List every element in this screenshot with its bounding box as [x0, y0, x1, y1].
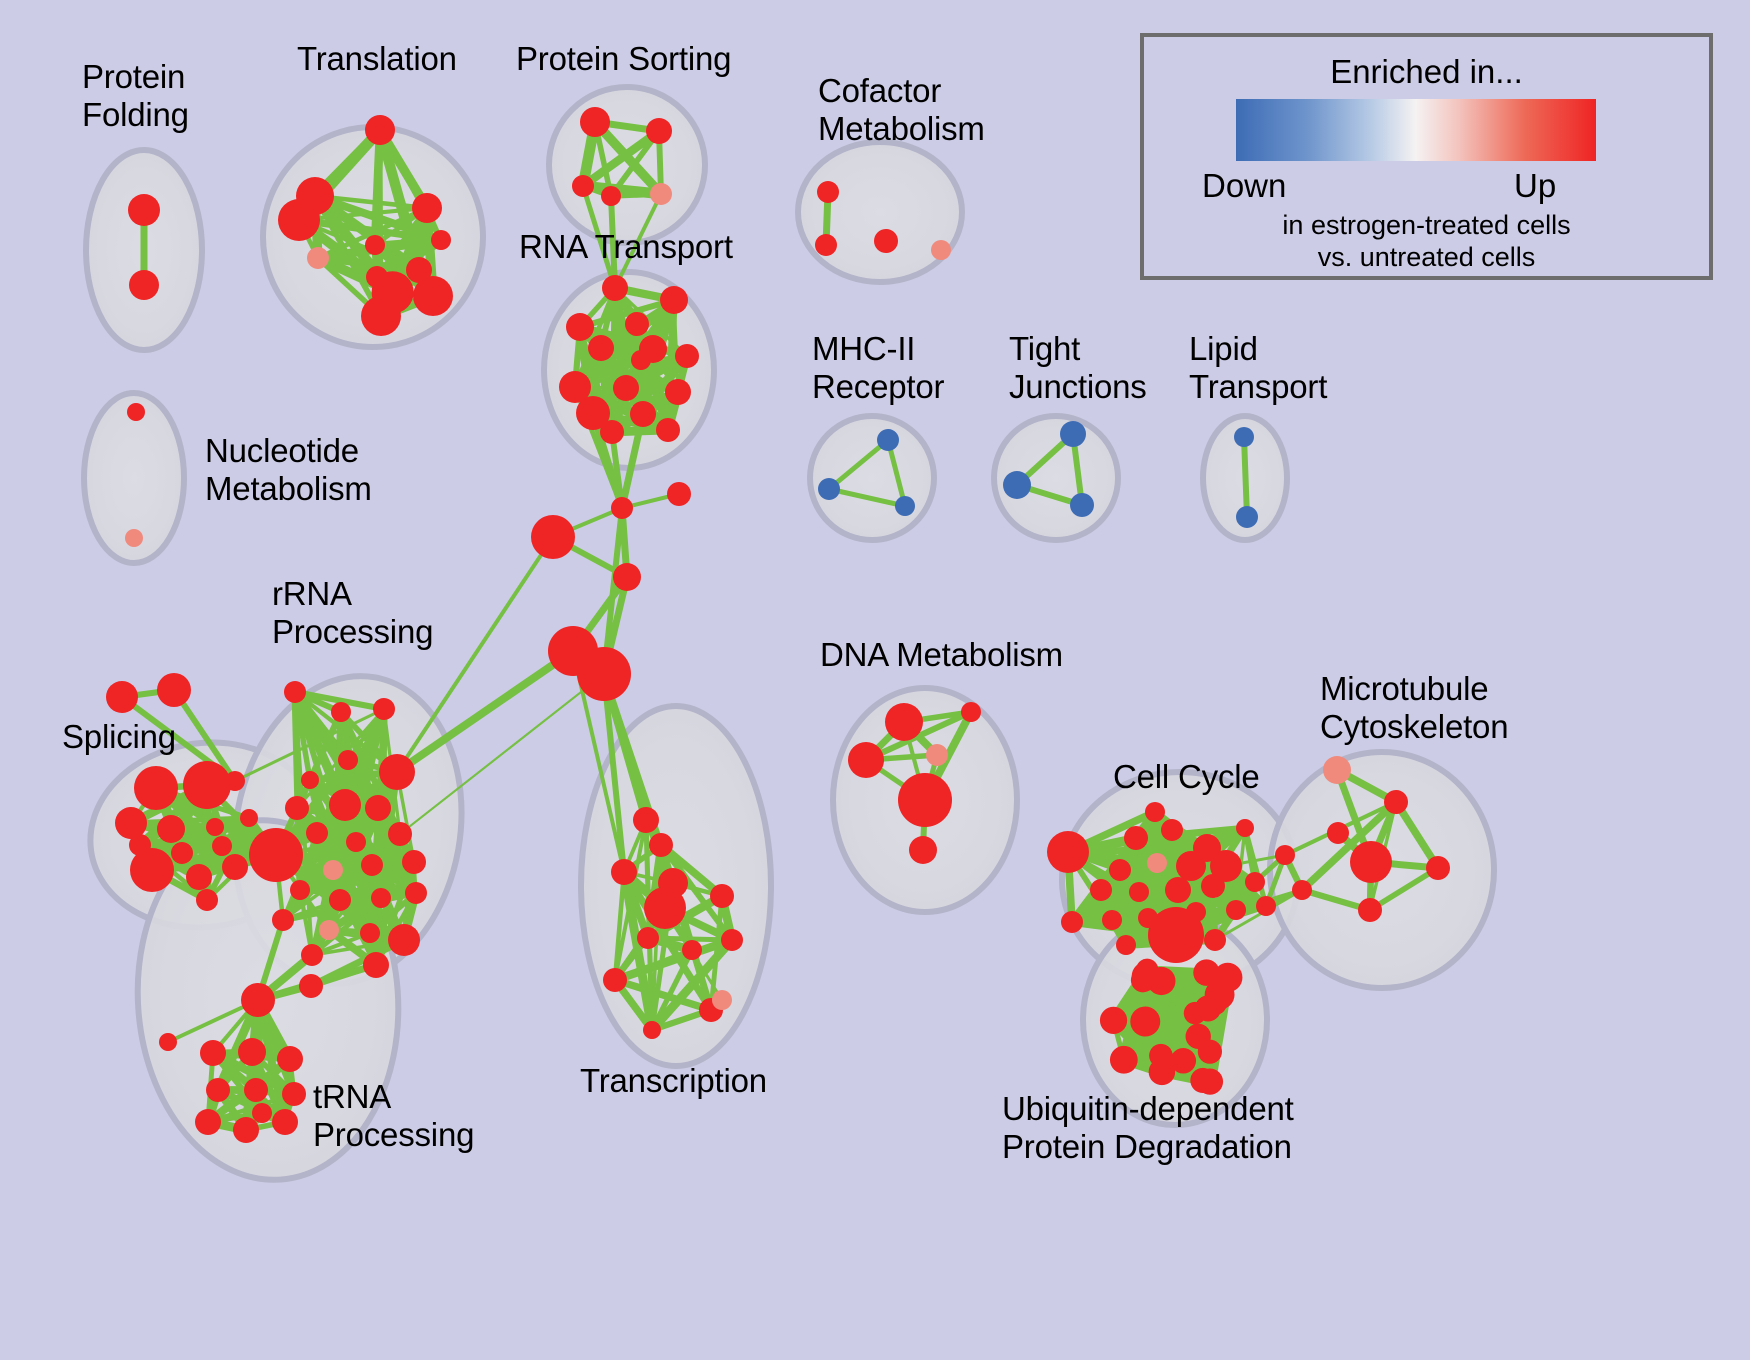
- network-node: [1145, 802, 1165, 822]
- cluster-ellipse-protein-sorting: [549, 87, 705, 243]
- network-node: [360, 923, 380, 943]
- network-node: [329, 889, 351, 911]
- network-node: [1047, 831, 1089, 873]
- network-node: [373, 698, 395, 720]
- network-node: [1213, 963, 1242, 992]
- network-node: [1358, 898, 1382, 922]
- network-node: [125, 529, 143, 547]
- network-node: [241, 983, 275, 1017]
- cluster-label-dna-metabolism: DNA Metabolism: [820, 636, 1063, 674]
- network-node: [1061, 911, 1083, 933]
- network-node: [817, 181, 839, 203]
- network-node: [379, 754, 415, 790]
- network-node: [631, 350, 651, 370]
- network-node: [115, 807, 147, 839]
- network-node: [1323, 756, 1351, 784]
- network-node: [926, 744, 948, 766]
- network-node: [643, 1021, 661, 1039]
- network-node: [644, 887, 686, 929]
- network-node: [588, 335, 614, 361]
- legend-down-label: Down: [1202, 167, 1286, 205]
- network-node: [675, 344, 699, 368]
- network-node: [721, 929, 743, 951]
- cluster-label-tight-junctions: Tight Junctions: [1009, 330, 1147, 406]
- network-node: [1109, 859, 1131, 881]
- network-node: [1102, 910, 1122, 930]
- cluster-label-translation: Translation: [297, 40, 457, 78]
- network-node: [1350, 841, 1392, 883]
- network-edge: [397, 537, 553, 772]
- network-node: [1204, 929, 1226, 951]
- network-node: [323, 860, 343, 880]
- network-node: [818, 478, 840, 500]
- network-node: [898, 773, 952, 827]
- network-node: [1147, 853, 1167, 873]
- network-node: [1327, 822, 1349, 844]
- network-node: [1070, 493, 1094, 517]
- network-node: [272, 909, 294, 931]
- network-node: [1426, 856, 1450, 880]
- network-node: [240, 809, 258, 827]
- network-node: [329, 789, 361, 821]
- network-node: [611, 859, 637, 885]
- network-node: [1201, 874, 1225, 898]
- network-node: [277, 1046, 303, 1072]
- network-node: [613, 563, 641, 591]
- network-node: [603, 968, 627, 992]
- network-node: [572, 175, 594, 197]
- network-node: [625, 312, 649, 336]
- network-node: [1234, 427, 1254, 447]
- network-node: [602, 275, 628, 301]
- network-edge: [300, 890, 416, 893]
- network-node: [1292, 880, 1312, 900]
- legend-title: Enriched in...: [1144, 53, 1709, 91]
- network-node: [566, 313, 594, 341]
- network-node: [272, 1109, 298, 1135]
- cluster-label-transcription: Transcription: [580, 1062, 767, 1100]
- legend-sub-line1: in estrogen-treated cells: [1282, 210, 1570, 240]
- network-node: [212, 836, 232, 856]
- network-node: [307, 247, 329, 269]
- network-node: [874, 229, 898, 253]
- network-node: [1149, 1044, 1173, 1068]
- cluster-label-rrna-processing: rRNA Processing: [272, 575, 433, 651]
- cluster-label-ubiquitin-protein-degradation: Ubiquitin-dependent Protein Degradation: [1002, 1090, 1294, 1166]
- network-node: [613, 375, 639, 401]
- network-node: [656, 418, 680, 442]
- network-node: [249, 828, 303, 882]
- network-node: [630, 401, 656, 427]
- network-node: [244, 1078, 268, 1102]
- network-node: [667, 482, 691, 506]
- network-node: [365, 115, 395, 145]
- cluster-label-mhc-ii-receptor: MHC-II Receptor: [812, 330, 944, 406]
- network-node: [646, 118, 672, 144]
- network-node: [637, 927, 659, 949]
- network-node: [361, 854, 383, 876]
- network-node: [306, 822, 328, 844]
- network-node: [611, 497, 633, 519]
- color-gradient-bar: [1236, 99, 1596, 161]
- network-node: [885, 703, 923, 741]
- network-node: [1176, 851, 1206, 881]
- network-node: [157, 673, 191, 707]
- network-node: [1100, 1007, 1127, 1034]
- network-node: [157, 815, 185, 843]
- network-node: [1003, 471, 1031, 499]
- network-node: [431, 230, 451, 250]
- network-node: [285, 796, 309, 820]
- cluster-label-rna-transport: RNA Transport: [519, 228, 733, 266]
- network-node: [1060, 421, 1086, 447]
- network-node: [665, 379, 691, 405]
- network-node: [710, 884, 734, 908]
- network-node: [301, 771, 319, 789]
- legend-subtitle: in estrogen-treated cellsvs. untreated c…: [1144, 209, 1709, 273]
- network-node: [1236, 819, 1254, 837]
- network-edge: [1244, 437, 1247, 517]
- network-node: [577, 647, 631, 701]
- legend-sub-line2: vs. untreated cells: [1318, 242, 1536, 272]
- network-node: [931, 240, 951, 260]
- network-node: [1256, 896, 1276, 916]
- cluster-ellipse-cofactor-metabolism: [798, 142, 962, 282]
- network-node: [106, 681, 138, 713]
- network-node: [301, 944, 323, 966]
- cluster-label-splicing: Splicing: [62, 718, 176, 756]
- network-node: [282, 1082, 306, 1106]
- network-node: [346, 832, 366, 852]
- network-node: [712, 990, 732, 1010]
- network-node: [1161, 819, 1183, 841]
- network-node: [1245, 872, 1265, 892]
- cluster-label-nucleotide-metabolism: Nucleotide Metabolism: [205, 432, 372, 508]
- network-node: [183, 761, 231, 809]
- network-node: [531, 515, 575, 559]
- network-node: [365, 795, 391, 821]
- network-node: [1148, 907, 1204, 963]
- network-node: [1195, 995, 1221, 1021]
- network-node: [388, 924, 420, 956]
- network-node: [127, 403, 145, 421]
- network-node: [252, 1103, 272, 1123]
- network-node: [225, 771, 245, 791]
- network-node: [1110, 1046, 1138, 1074]
- network-node: [1124, 826, 1148, 850]
- network-node: [171, 842, 193, 864]
- network-node: [128, 194, 160, 226]
- network-node: [338, 750, 358, 770]
- network-node: [1116, 935, 1136, 955]
- network-node: [361, 296, 401, 336]
- network-node: [412, 193, 442, 223]
- network-node: [134, 766, 178, 810]
- network-node: [284, 681, 306, 703]
- network-node: [895, 496, 915, 516]
- network-node: [222, 854, 248, 880]
- network-node: [1226, 900, 1246, 920]
- network-node: [600, 420, 624, 444]
- network-node: [815, 234, 837, 256]
- network-node: [366, 266, 388, 288]
- network-node: [195, 1109, 221, 1135]
- network-node: [402, 850, 426, 874]
- cluster-label-protein-sorting: Protein Sorting: [516, 40, 731, 78]
- network-figure: Protein FoldingTranslationNucleotide Met…: [0, 0, 1750, 1360]
- network-node: [159, 1033, 177, 1051]
- network-node: [1090, 879, 1112, 901]
- network-node: [233, 1117, 259, 1143]
- network-node: [1129, 882, 1149, 902]
- network-node: [1384, 790, 1408, 814]
- network-node: [290, 880, 310, 900]
- cluster-label-microtubule-cytoskeleton: Microtubule Cytoskeleton: [1320, 670, 1508, 746]
- cluster-label-trna-processing: tRNA Processing: [313, 1078, 474, 1154]
- network-node: [1132, 962, 1161, 991]
- legend-box: Enriched in... Down Up in estrogen-treat…: [1140, 33, 1713, 280]
- network-node: [129, 834, 151, 856]
- network-node: [413, 276, 453, 316]
- network-node: [371, 888, 391, 908]
- network-node: [206, 1078, 230, 1102]
- network-node: [909, 836, 937, 864]
- network-node: [363, 952, 389, 978]
- network-node: [200, 1040, 226, 1066]
- network-node: [1165, 877, 1191, 903]
- network-node: [961, 702, 981, 722]
- cluster-label-cell-cycle: Cell Cycle: [1113, 758, 1260, 796]
- network-node: [319, 920, 339, 940]
- legend-up-label: Up: [1514, 167, 1556, 205]
- network-node: [633, 807, 659, 833]
- network-node: [186, 864, 212, 890]
- network-node: [196, 889, 218, 911]
- cluster-label-protein-folding: Protein Folding: [82, 58, 189, 134]
- network-node: [206, 818, 224, 836]
- network-node: [388, 822, 412, 846]
- network-node: [299, 974, 323, 998]
- network-node: [278, 199, 320, 241]
- network-node: [331, 702, 351, 722]
- network-node: [649, 833, 673, 857]
- cluster-label-lipid-transport: Lipid Transport: [1189, 330, 1327, 406]
- network-node: [848, 742, 884, 778]
- network-node: [580, 107, 610, 137]
- network-node: [682, 940, 702, 960]
- network-node: [405, 882, 427, 904]
- network-node: [129, 270, 159, 300]
- network-node: [1275, 845, 1295, 865]
- network-node: [1130, 1007, 1160, 1037]
- network-node: [601, 186, 621, 206]
- network-node: [650, 183, 672, 205]
- network-node: [1170, 1048, 1196, 1074]
- cluster-label-cofactor-metabolism: Cofactor Metabolism: [818, 72, 985, 148]
- network-node: [238, 1038, 266, 1066]
- network-node: [1236, 506, 1258, 528]
- network-node: [877, 429, 899, 451]
- network-node: [1186, 1024, 1211, 1049]
- cluster-ellipse-mhc-ii-receptor: [810, 416, 934, 540]
- network-node: [660, 286, 688, 314]
- network-node: [365, 235, 385, 255]
